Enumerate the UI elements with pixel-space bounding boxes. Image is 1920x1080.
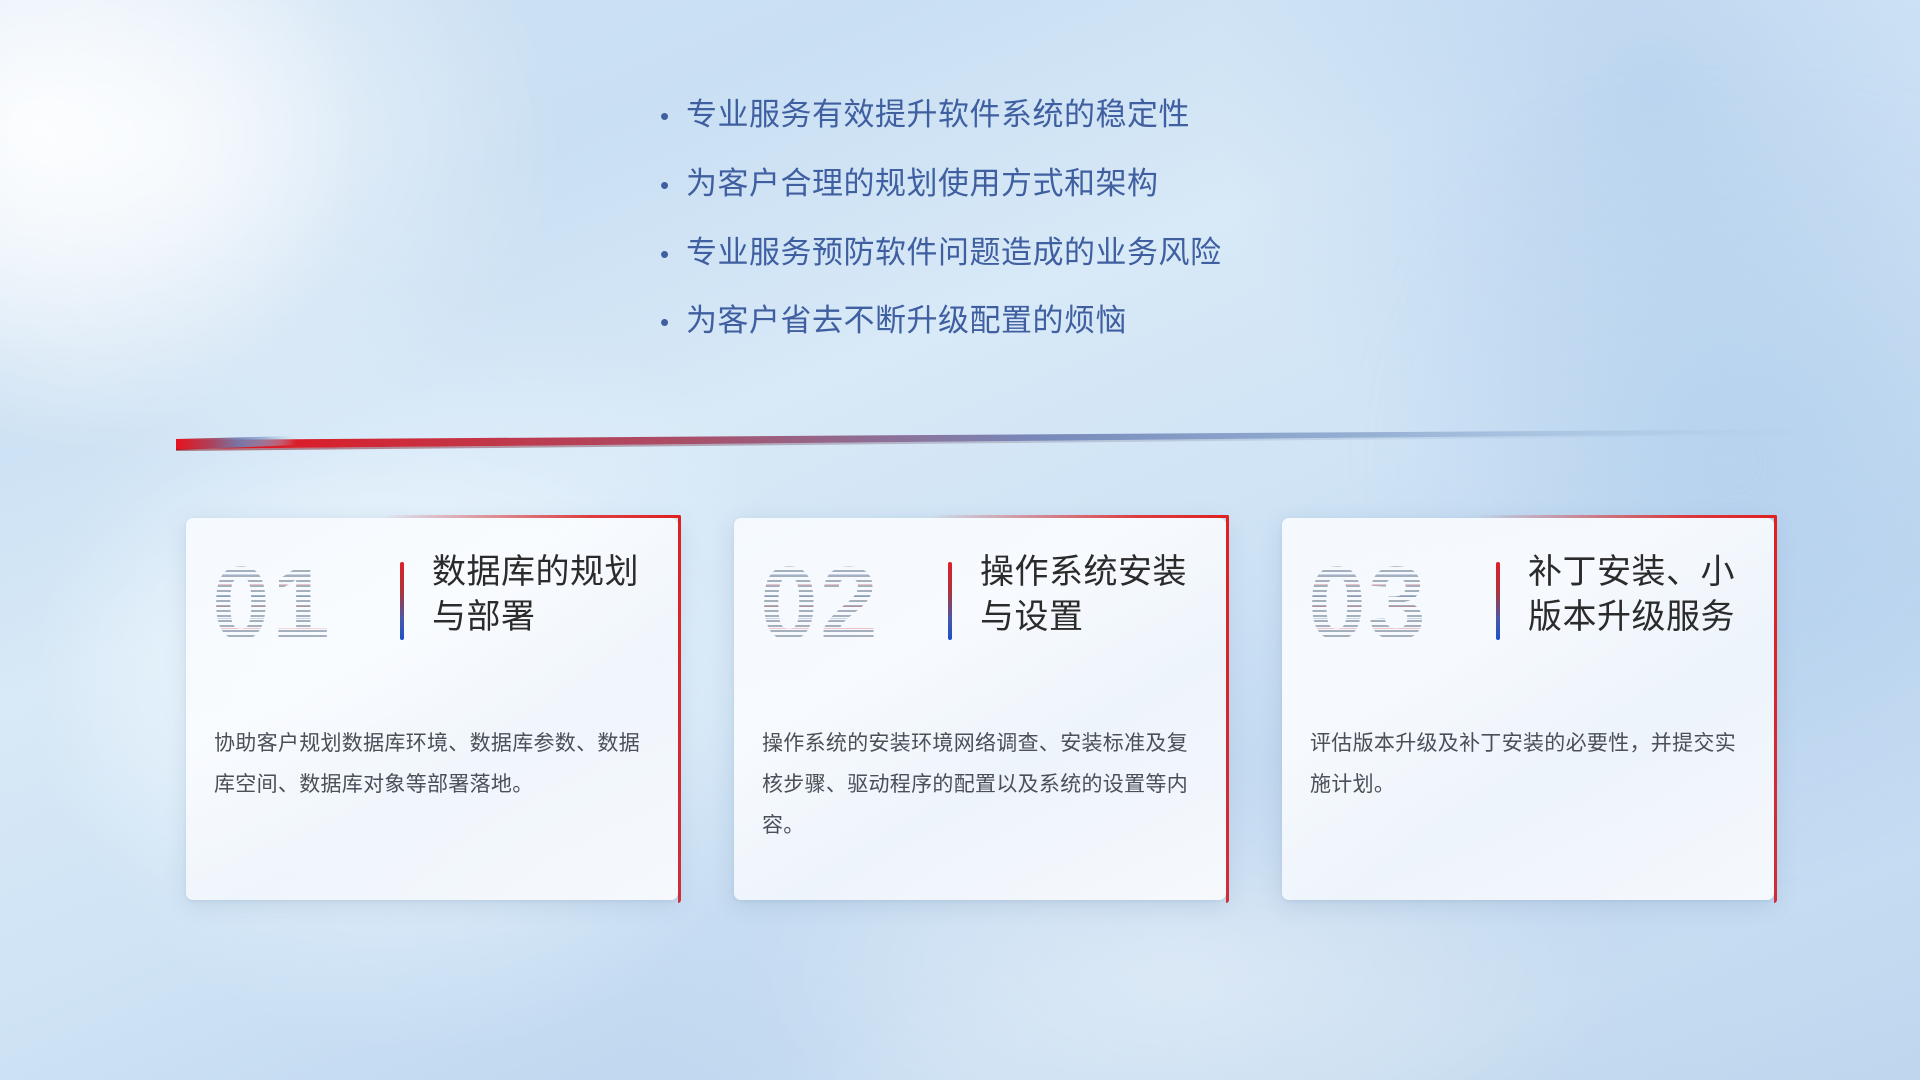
slide-canvas: • 专业服务有效提升软件系统的稳定性 • 为客户合理的规划使用方式和架构 • 专… <box>0 0 1920 1080</box>
card-number-watermark: 02 <box>760 540 950 668</box>
bullet-marker-icon: • <box>660 309 686 335</box>
card-description: 协助客户规划数据库环境、数据库参数、数据库空间、数据库对象等部署落地。 <box>214 724 652 806</box>
card-title: 操作系统安装与设置 <box>980 550 1208 640</box>
bullet-item-text: 为客户省去不断升级配置的烦恼 <box>686 302 1127 341</box>
bullet-marker-icon: • <box>660 172 686 198</box>
card-accent-rule <box>948 562 952 640</box>
card-accent-rule <box>1496 562 1500 640</box>
card-number-watermark: 01 <box>212 540 402 668</box>
service-card-list: 01 01 数据库的规划与部署 协助客户规划数据库环境、数据库参数、数据库空间、… <box>186 518 1774 900</box>
card-header: 01 01 数据库的规划与部署 <box>186 518 678 708</box>
card-number-watermark: 03 <box>1308 540 1498 668</box>
bullet-item: • 为客户省去不断升级配置的烦恼 <box>660 302 1480 341</box>
bullet-marker-icon: • <box>660 103 686 129</box>
card-description: 操作系统的安装环境网络调查、安装标准及复核步骤、驱动程序的配置以及系统的设置等内… <box>762 724 1200 847</box>
service-card[interactable]: 01 01 数据库的规划与部署 协助客户规划数据库环境、数据库参数、数据库空间、… <box>186 518 678 900</box>
gradient-wedge-divider-icon <box>176 418 1848 452</box>
service-card[interactable]: 03 03 补丁安装、小版本升级服务 评估版本升级及补丁安装的必要性，并提交实施… <box>1282 518 1774 900</box>
bullet-item-text: 专业服务有效提升软件系统的稳定性 <box>686 96 1190 135</box>
bullet-item-text: 专业服务预防软件问题造成的业务风险 <box>686 234 1222 273</box>
card-header: 03 03 补丁安装、小版本升级服务 <box>1282 518 1774 708</box>
bullet-marker-icon: • <box>660 241 686 267</box>
bullet-item: • 专业服务有效提升软件系统的稳定性 <box>660 96 1480 135</box>
card-title: 补丁安装、小版本升级服务 <box>1528 550 1756 640</box>
section-divider <box>176 418 1848 452</box>
background-glow-top-left <box>0 0 600 480</box>
service-card[interactable]: 02 02 操作系统安装与设置 操作系统的安装环境网络调查、安装标准及复核步骤、… <box>734 518 1226 900</box>
bullet-item-text: 为客户合理的规划使用方式和架构 <box>686 165 1159 204</box>
benefits-bullet-list: • 专业服务有效提升软件系统的稳定性 • 为客户合理的规划使用方式和架构 • 专… <box>660 96 1480 371</box>
card-accent-rule <box>400 562 404 640</box>
card-title: 数据库的规划与部署 <box>432 550 660 640</box>
card-header: 02 02 操作系统安装与设置 <box>734 518 1226 708</box>
bullet-item: • 专业服务预防软件问题造成的业务风险 <box>660 234 1480 273</box>
card-description: 评估版本升级及补丁安装的必要性，并提交实施计划。 <box>1310 724 1748 806</box>
bullet-item: • 为客户合理的规划使用方式和架构 <box>660 165 1480 204</box>
